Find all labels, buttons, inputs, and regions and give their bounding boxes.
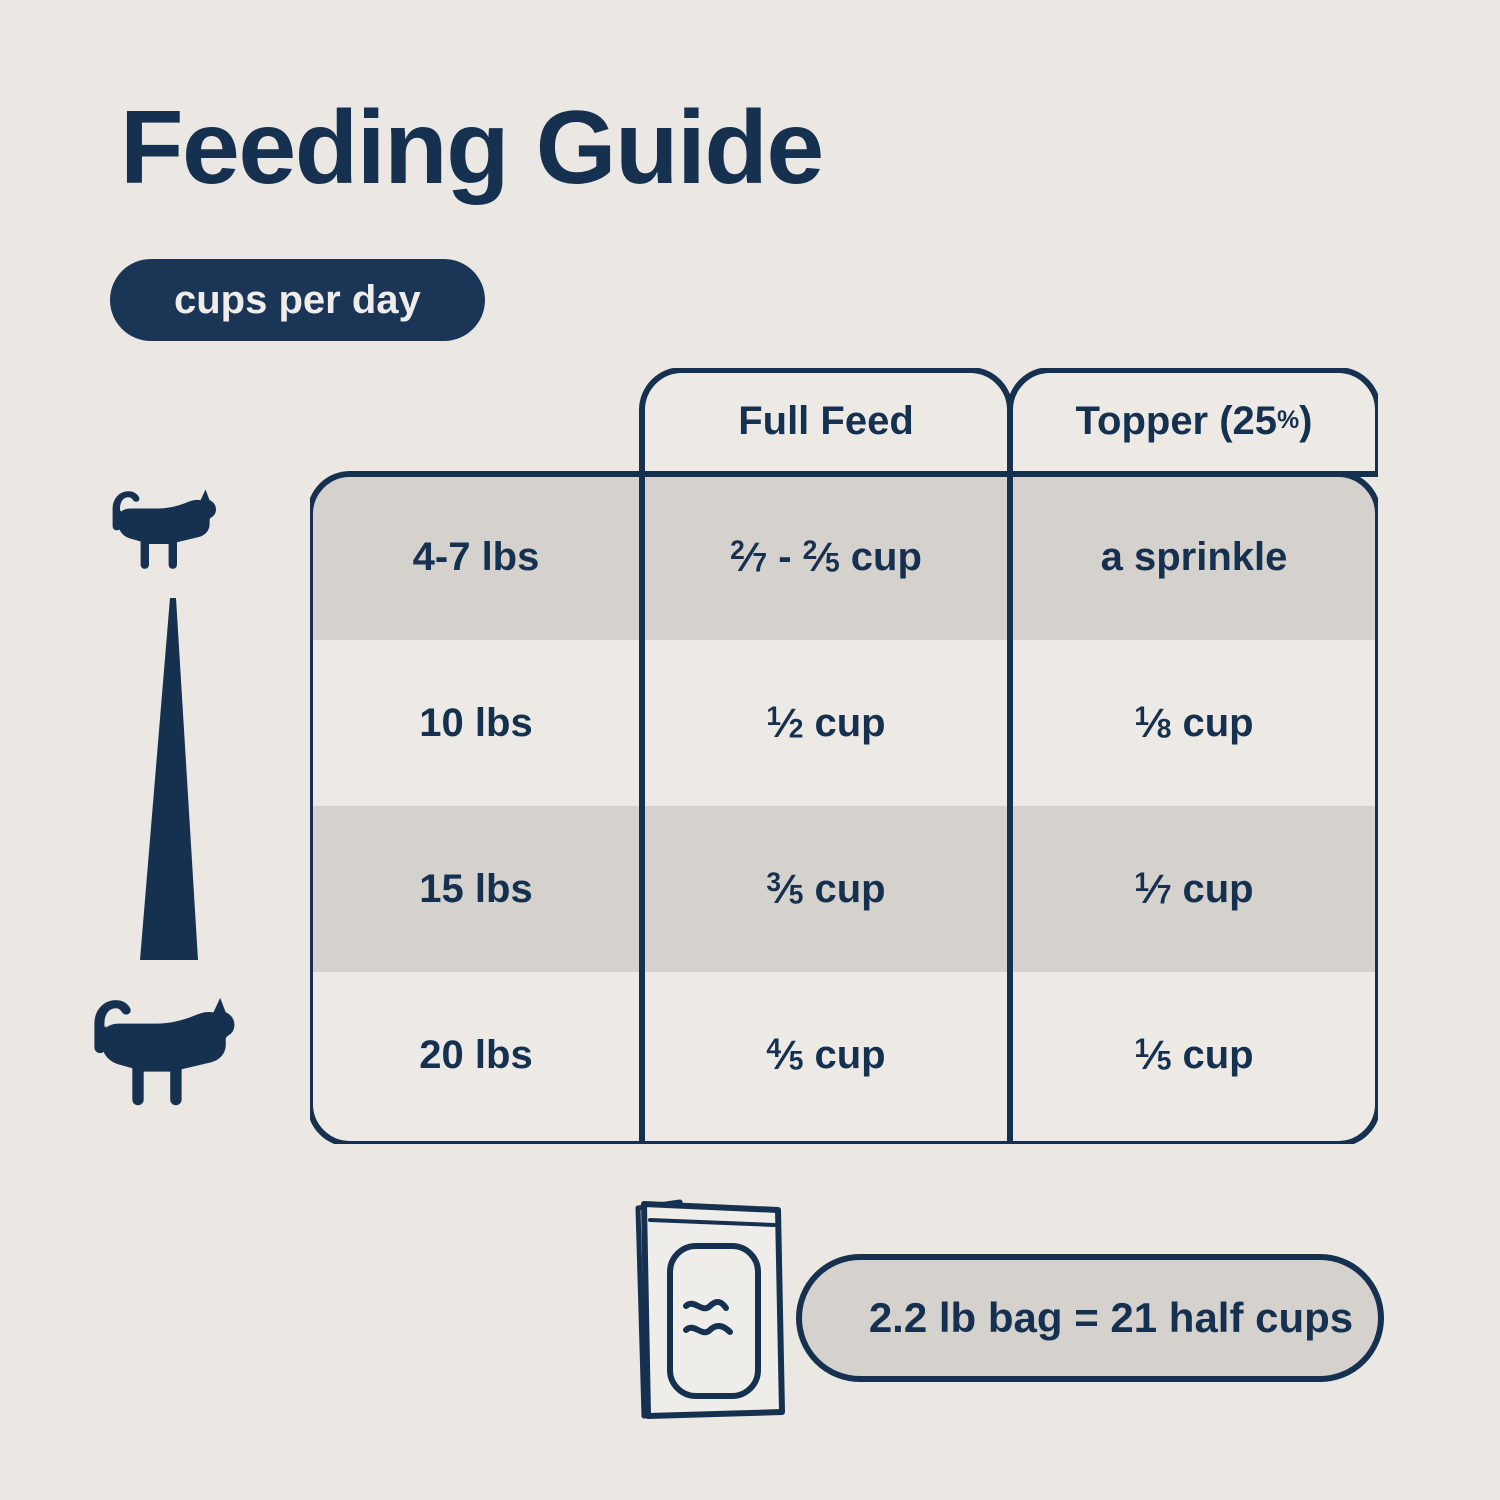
cell-full-feed: 2⁄7 - 2⁄5 cup: [642, 474, 1010, 640]
cell-topper: 1⁄8 cup: [1010, 640, 1378, 806]
cell-full-feed: 3⁄5 cup: [642, 806, 1010, 972]
cell-full-feed: 4⁄5 cup: [642, 972, 1010, 1138]
cell-topper: 1⁄5 cup: [1010, 972, 1378, 1138]
fraction: 1⁄7: [1134, 866, 1171, 913]
fraction: 1⁄8: [1134, 700, 1171, 747]
unit-label: cup: [1183, 1033, 1254, 1078]
cell-topper: 1⁄7 cup: [1010, 806, 1378, 972]
size-scale-column: [70, 470, 290, 1130]
unit-label: cup: [815, 701, 886, 746]
unit-label: cup: [815, 867, 886, 912]
fraction: 4⁄5: [766, 1032, 803, 1079]
cell-topper: a sprinkle: [1010, 474, 1378, 640]
food-bag-icon: [614, 1198, 844, 1420]
page-title: Feeding Guide: [120, 96, 823, 200]
cell-weight: 20 lbs: [310, 972, 642, 1138]
fraction: 1⁄2: [766, 700, 803, 747]
fraction: 2⁄7: [730, 534, 767, 581]
column-header-topper: Topper (25%): [1010, 368, 1378, 474]
bag-callout: 2.2 lb bag = 21 half cups: [614, 1198, 1384, 1420]
topper-header-suffix: ): [1299, 399, 1312, 444]
cell-weight: 4-7 lbs: [310, 474, 642, 640]
unit-label: cup: [1183, 867, 1254, 912]
column-header-full-feed: Full Feed: [642, 368, 1010, 474]
fraction: 1⁄5: [1134, 1032, 1171, 1079]
cat-walking-icon-small: [108, 480, 220, 576]
table-row: 10 lbs 1⁄2 cup 1⁄8 cup: [310, 640, 1378, 806]
unit-label: cup: [815, 1033, 886, 1078]
unit-label: cup: [851, 535, 922, 580]
cell-full-feed: 1⁄2 cup: [642, 640, 1010, 806]
fraction: 2⁄5: [803, 534, 840, 581]
table-row: 4-7 lbs 2⁄7 - 2⁄5 cup a sprinkle: [310, 474, 1378, 640]
feeding-table: Full Feed Topper (25%) 4-7 lbs 2⁄7 - 2⁄5…: [310, 368, 1378, 1144]
cat-walking-icon-large: [78, 985, 250, 1115]
cell-weight: 15 lbs: [310, 806, 642, 972]
cups-per-day-badge: cups per day: [110, 259, 485, 341]
cell-weight: 10 lbs: [310, 640, 642, 806]
unit-label: cup: [1183, 701, 1254, 746]
table-row: 20 lbs 4⁄5 cup 1⁄5 cup: [310, 972, 1378, 1138]
fraction: 3⁄5: [766, 866, 803, 913]
bag-yield-pill: 2.2 lb bag = 21 half cups: [796, 1254, 1384, 1382]
topper-header-text: Topper (25: [1076, 399, 1278, 444]
size-wedge-icon: [124, 598, 244, 968]
table-row: 15 lbs 3⁄5 cup 1⁄7 cup: [310, 806, 1378, 972]
